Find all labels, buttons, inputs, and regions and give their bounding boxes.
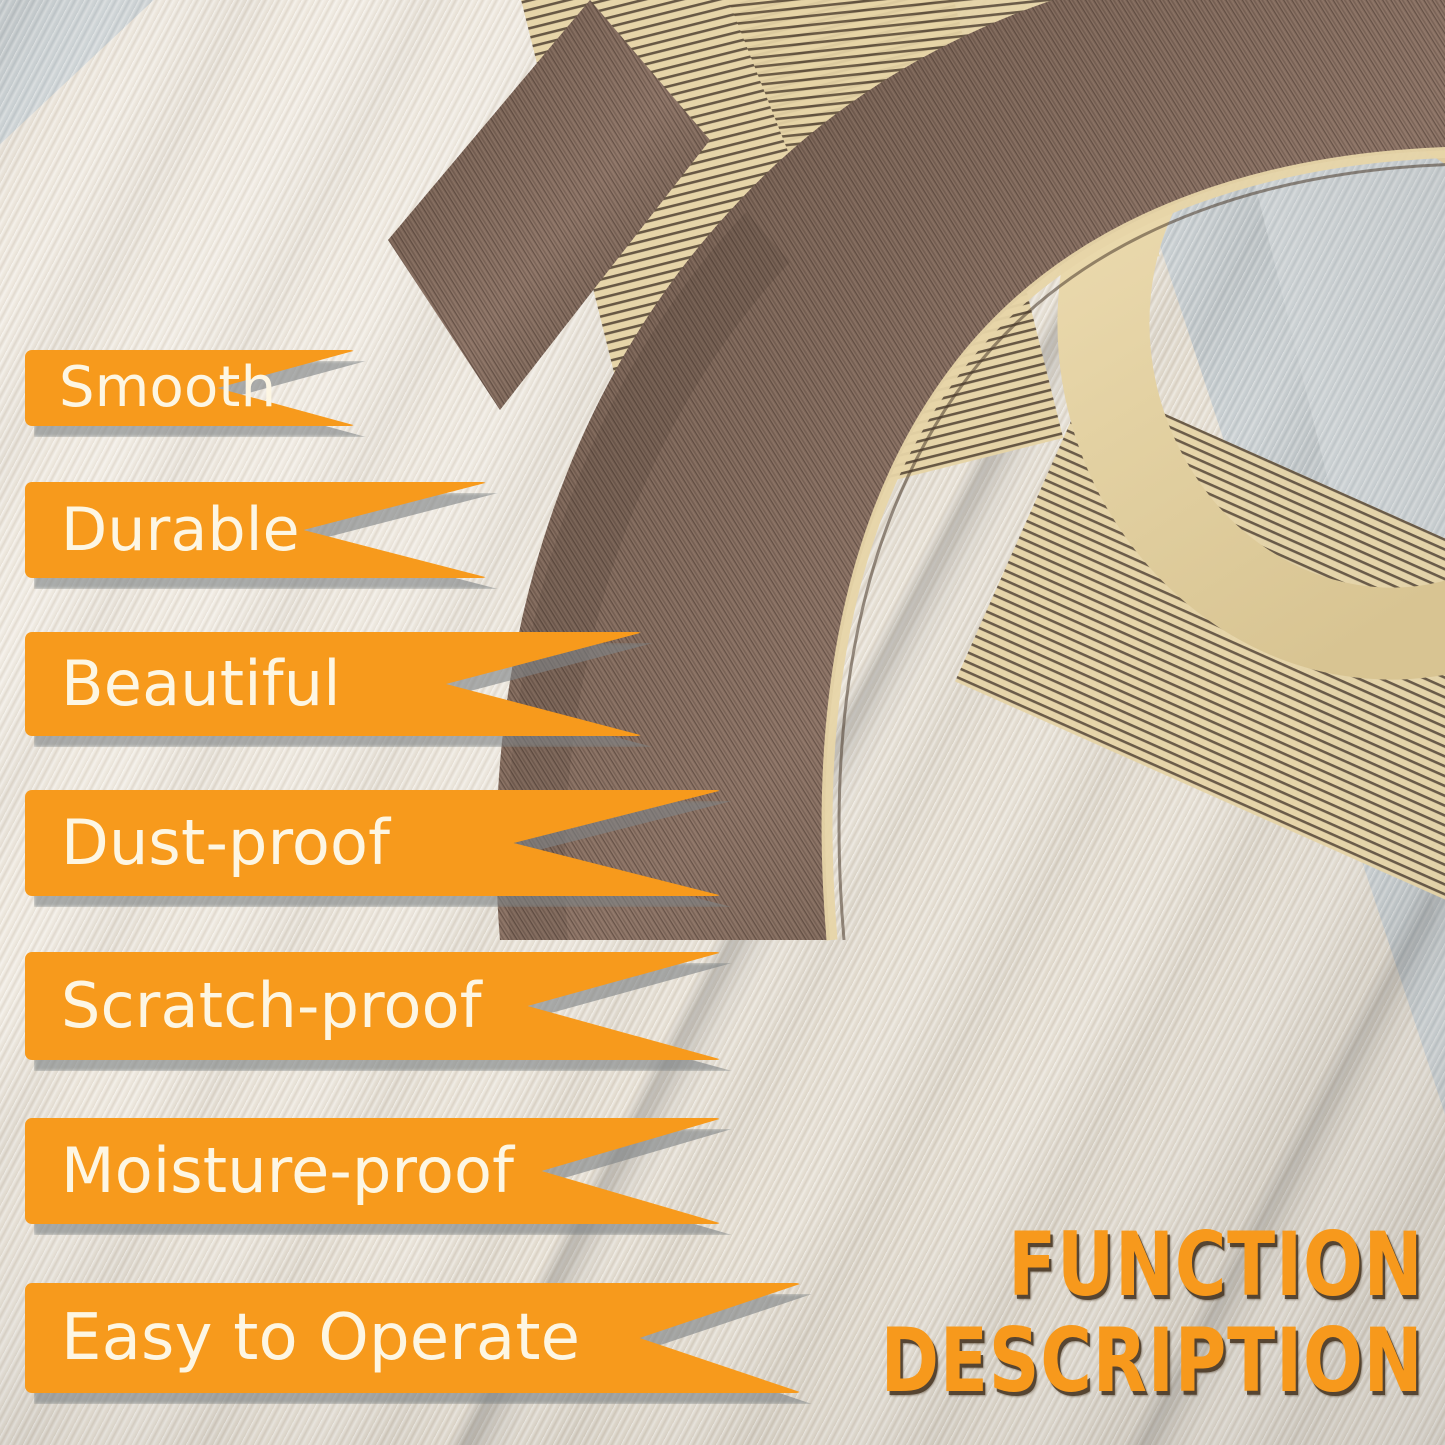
feature-ribbon: Dust-proof: [25, 790, 723, 896]
feature-label: Moisture-proof: [61, 1140, 514, 1202]
heading-line-description: DESCRIPTION: [880, 1317, 1423, 1405]
product-marketing-image: SmoothDurableBeautifulDust-proofScratch-…: [0, 0, 1445, 1445]
feature-label: Scratch-proof: [61, 975, 482, 1037]
feature-ribbon: Smooth: [25, 350, 357, 426]
feature-label: Easy to Operate: [61, 1306, 580, 1370]
feature-label: Dust-proof: [61, 812, 390, 874]
feature-label: Beautiful: [61, 653, 341, 715]
feature-label: Smooth: [59, 360, 276, 416]
feature-ribbon: Beautiful: [25, 632, 644, 736]
feature-ribbon: Easy to Operate: [25, 1283, 803, 1393]
feature-label: Durable: [61, 500, 300, 560]
function-description-heading: FUNCTION DESCRIPTION: [745, 1221, 1423, 1405]
heading-line-function: FUNCTION: [880, 1221, 1423, 1309]
feature-ribbon: Moisture-proof: [25, 1118, 723, 1224]
feature-ribbon: Durable: [25, 482, 489, 578]
feature-ribbon: Scratch-proof: [25, 952, 723, 1060]
